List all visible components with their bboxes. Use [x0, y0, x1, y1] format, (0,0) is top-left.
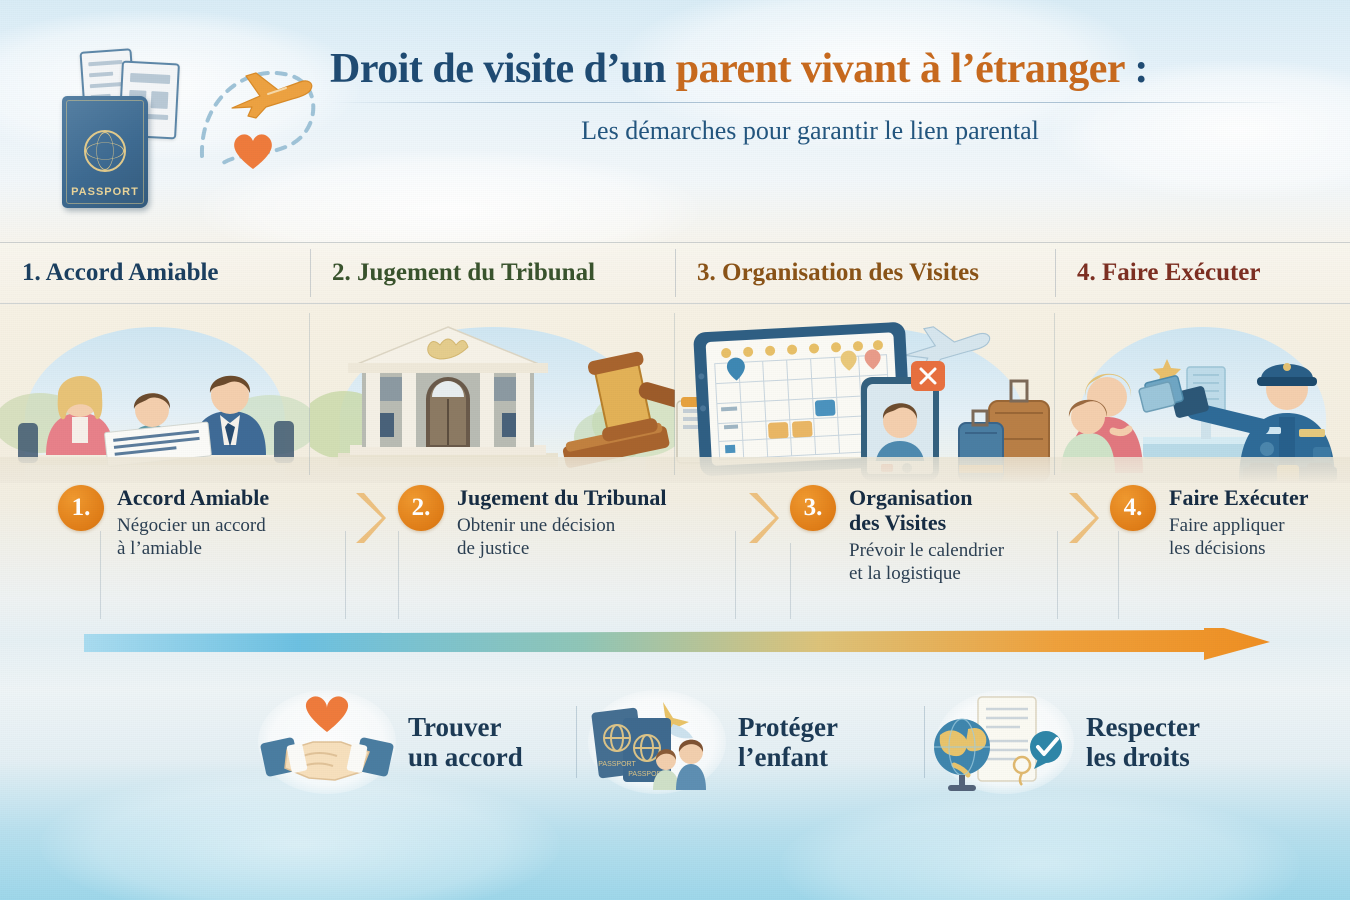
- step-title: Faire Exécuter: [1169, 485, 1308, 510]
- calendar-devices-travel-illustration: [675, 305, 1055, 483]
- step-number-badge: 2.: [398, 485, 444, 531]
- column-header-band: 1. Accord Amiable 2. Jugement du Tribuna…: [0, 242, 1350, 304]
- step-item-2[interactable]: 2. Jugement du Tribunal Obtenir une déci…: [398, 483, 728, 560]
- svg-text:PASSPORT: PASSPORT: [598, 761, 636, 768]
- courthouse-gavel-illustration: [310, 305, 675, 483]
- step-item-1[interactable]: 1. Accord Amiable Négocier un accord à l…: [58, 483, 348, 560]
- value-badge-row: Trouver un accord: [0, 672, 1350, 812]
- step-list: 1. Accord Amiable Négocier un accord à l…: [0, 483, 1350, 623]
- border-control-illustration: [1055, 305, 1350, 483]
- passport-book-icon: PASSPORT: [62, 96, 148, 208]
- value-badge-proteger-lenfant[interactable]: PASSPORT PASSPORT Protéger l’enfant: [582, 684, 930, 800]
- step-item-3[interactable]: 3. Organisation des Visites Prévoir le c…: [790, 483, 1090, 586]
- chevron-right-icon: [352, 491, 386, 545]
- step-title: Organisation des Visites: [849, 485, 1004, 535]
- handshake-heart-icon: [252, 688, 402, 796]
- value-badge-label: Protéger l’enfant: [738, 712, 838, 772]
- step-number-badge: 3.: [790, 485, 836, 531]
- step-title: Accord Amiable: [117, 485, 269, 510]
- column-header-organisation-visites: 3. Organisation des Visites: [675, 243, 1055, 303]
- step-number-badge: 4.: [1110, 485, 1156, 531]
- chevron-right-icon: [745, 491, 779, 545]
- infographic-root: PASSPORT Droit de visite d’un parent viv…: [0, 0, 1350, 900]
- globe-document-check-icon: [930, 688, 1080, 796]
- step-title: Jugement du Tribunal: [457, 485, 666, 510]
- title-part-1: Droit de visite d’un: [330, 46, 676, 92]
- value-badge-label: Respecter les droits: [1086, 712, 1200, 772]
- step-number-badge: 1.: [58, 485, 104, 531]
- title-accent: parent vivant à l’étranger: [676, 46, 1125, 92]
- title-divider: [330, 102, 1290, 103]
- column-header-faire-executer: 4. Faire Exécuter: [1055, 243, 1350, 303]
- chevron-right-icon: [1065, 491, 1099, 545]
- globe-emblem-icon: [84, 130, 126, 172]
- step-description: Prévoir le calendrier et la logistique: [849, 539, 1004, 585]
- family-mediation-illustration: [0, 305, 310, 483]
- page-title: Droit de visite d’un parent vivant à l’é…: [330, 46, 1290, 92]
- header-logo: PASSPORT: [48, 38, 338, 218]
- page-subtitle: Les démarches pour garantir le lien pare…: [330, 115, 1290, 146]
- progress-arrow: [84, 628, 1270, 662]
- value-badge-label: Trouver un accord: [408, 712, 523, 772]
- plane-icon: [226, 66, 316, 122]
- column-header-jugement-tribunal: 2. Jugement du Tribunal: [310, 243, 675, 303]
- title-block: Droit de visite d’un parent vivant à l’é…: [330, 46, 1290, 146]
- value-badge-respecter-les-droits[interactable]: Respecter les droits: [930, 684, 1290, 800]
- step-item-4[interactable]: 4. Faire Exécuter Faire appliquer les dé…: [1110, 483, 1350, 560]
- illustration-row: [0, 305, 1350, 483]
- value-badge-trouver-un-accord[interactable]: Trouver un accord: [252, 684, 582, 800]
- heart-icon: [230, 130, 276, 172]
- passports-children-icon: PASSPORT PASSPORT: [582, 688, 732, 796]
- step-description: Obtenir une décision de justice: [457, 514, 666, 560]
- column-header-accord-amiable: 1. Accord Amiable: [0, 243, 310, 303]
- step-description: Faire appliquer les décisions: [1169, 514, 1308, 560]
- passport-word: PASSPORT: [62, 186, 148, 198]
- title-colon: :: [1124, 46, 1148, 92]
- step-description: Négocier un accord à l’amiable: [117, 514, 269, 560]
- passport-icon: PASSPORT: [56, 50, 206, 210]
- header: PASSPORT Droit de visite d’un parent viv…: [0, 0, 1350, 230]
